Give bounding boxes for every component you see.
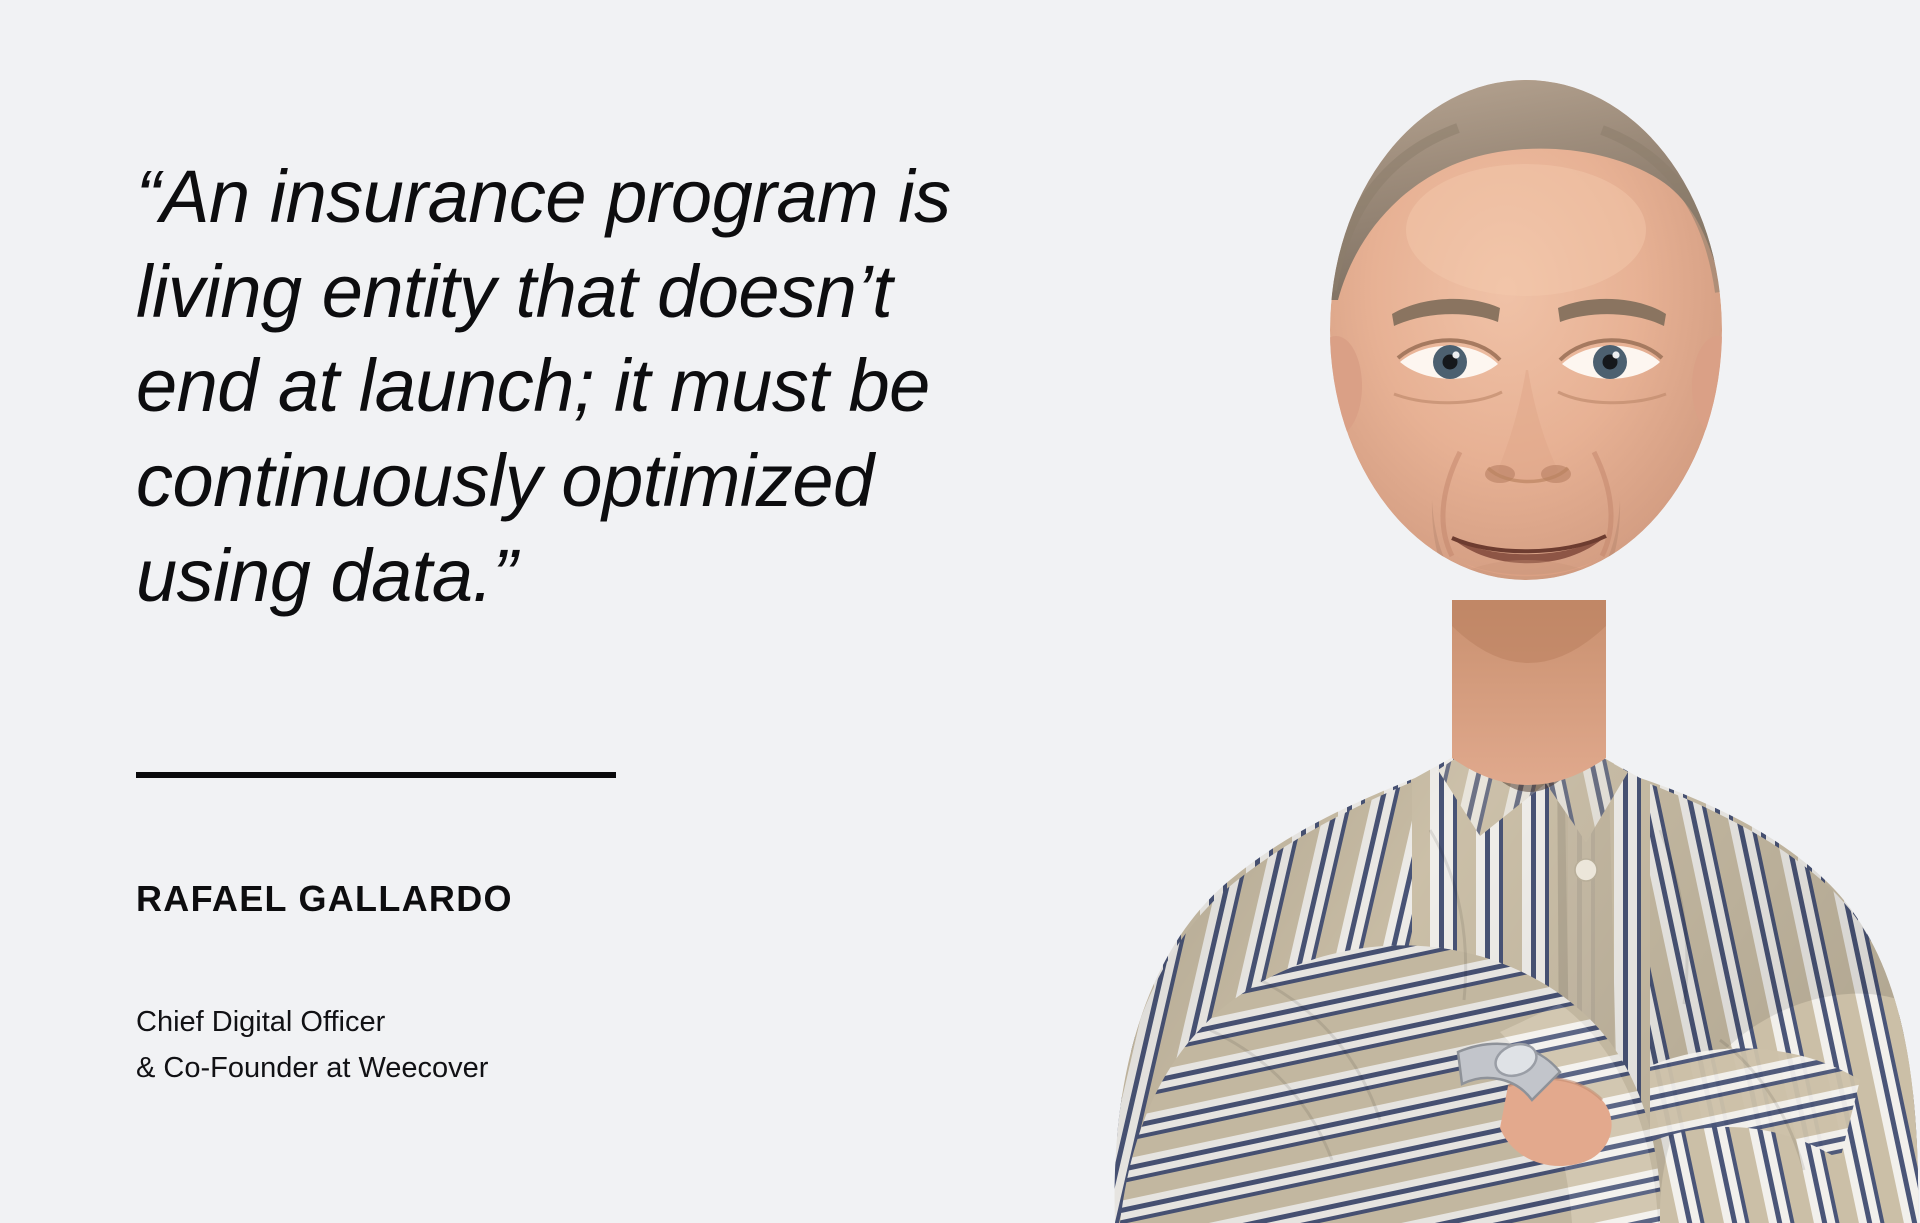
author-name: RAFAEL GALLARDO	[136, 878, 513, 920]
author-role: Chief Digital Officer & Co-Founder at We…	[136, 1000, 488, 1092]
testimonial-card: “An insurance program is a living entity…	[0, 0, 1920, 1223]
divider-rule	[136, 772, 616, 778]
portrait-photo	[960, 0, 1920, 1223]
